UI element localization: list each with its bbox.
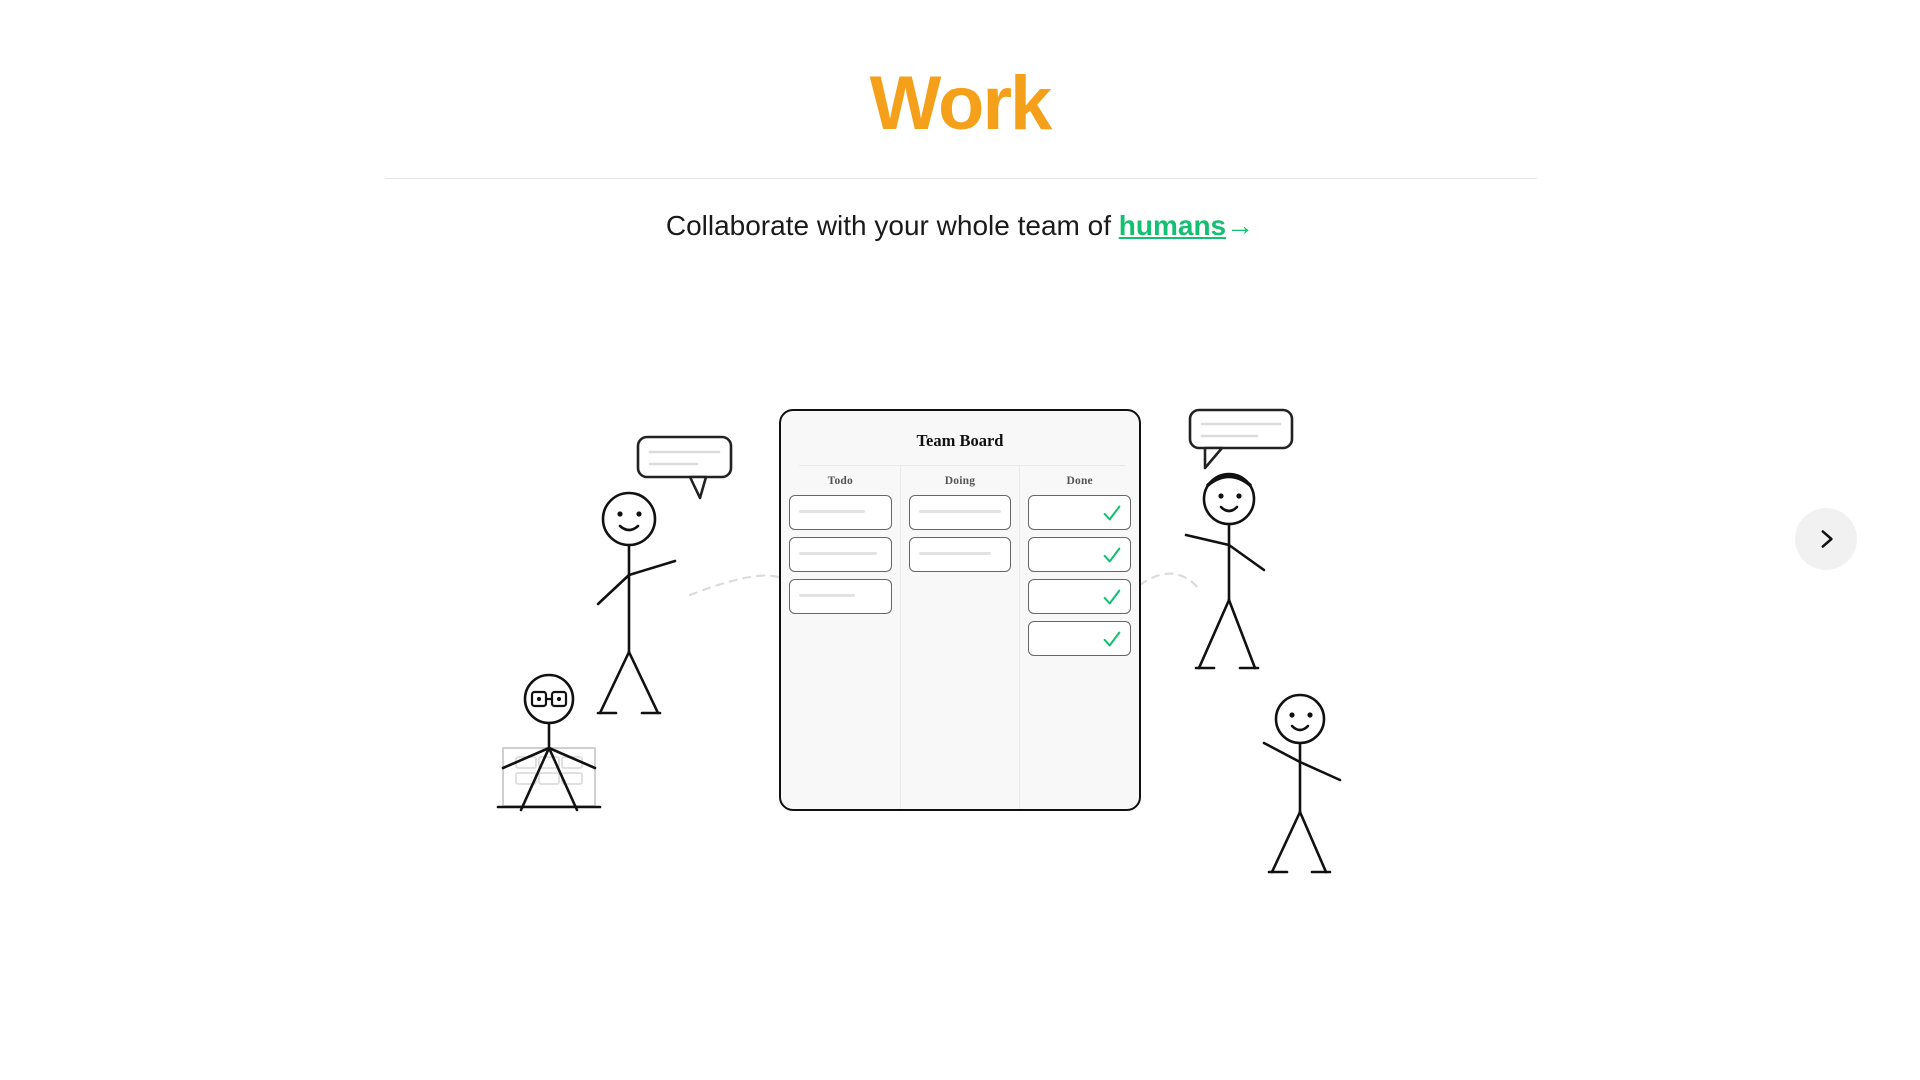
card-placeholder-line	[919, 510, 1001, 513]
character-human-right-top	[1186, 410, 1292, 668]
task-card[interactable]	[1028, 579, 1131, 614]
chevron-right-icon	[1813, 526, 1839, 552]
task-card[interactable]	[1028, 621, 1131, 656]
task-card[interactable]	[1028, 537, 1131, 572]
column-header-todo: Todo	[789, 475, 892, 487]
check-icon	[1101, 628, 1123, 650]
check-icon	[1101, 502, 1123, 524]
board-column-todo: Todo	[781, 466, 900, 811]
connector-left	[690, 576, 790, 595]
board-column-doing: Doing	[900, 466, 1020, 811]
task-card[interactable]	[909, 537, 1012, 572]
task-card[interactable]	[789, 495, 892, 530]
check-icon	[1101, 586, 1123, 608]
task-card[interactable]	[789, 579, 892, 614]
card-placeholder-line	[799, 552, 877, 555]
connector-right	[1140, 574, 1200, 590]
board-title: Team Board	[781, 431, 1139, 451]
check-icon	[1101, 544, 1123, 566]
team-board: Team Board Todo Doing	[779, 409, 1141, 811]
column-header-done: Done	[1028, 475, 1131, 487]
card-placeholder-line	[799, 510, 865, 513]
speech-bubble-left	[638, 437, 731, 498]
next-slide-button[interactable]	[1795, 508, 1857, 570]
character-human-left	[598, 437, 731, 713]
board-column-done: Done	[1019, 466, 1139, 811]
character-robot-left	[498, 675, 600, 810]
task-card[interactable]	[909, 495, 1012, 530]
card-placeholder-line	[799, 594, 855, 597]
speech-bubble-right	[1190, 410, 1292, 468]
character-human-right-bottom	[1264, 695, 1340, 872]
card-placeholder-line	[919, 552, 991, 555]
board-columns: Todo Doing	[781, 466, 1139, 811]
task-card[interactable]	[789, 537, 892, 572]
column-header-doing: Doing	[909, 475, 1012, 487]
page-root: Work Collaborate with your whole team of…	[0, 0, 1920, 1080]
task-card[interactable]	[1028, 495, 1131, 530]
